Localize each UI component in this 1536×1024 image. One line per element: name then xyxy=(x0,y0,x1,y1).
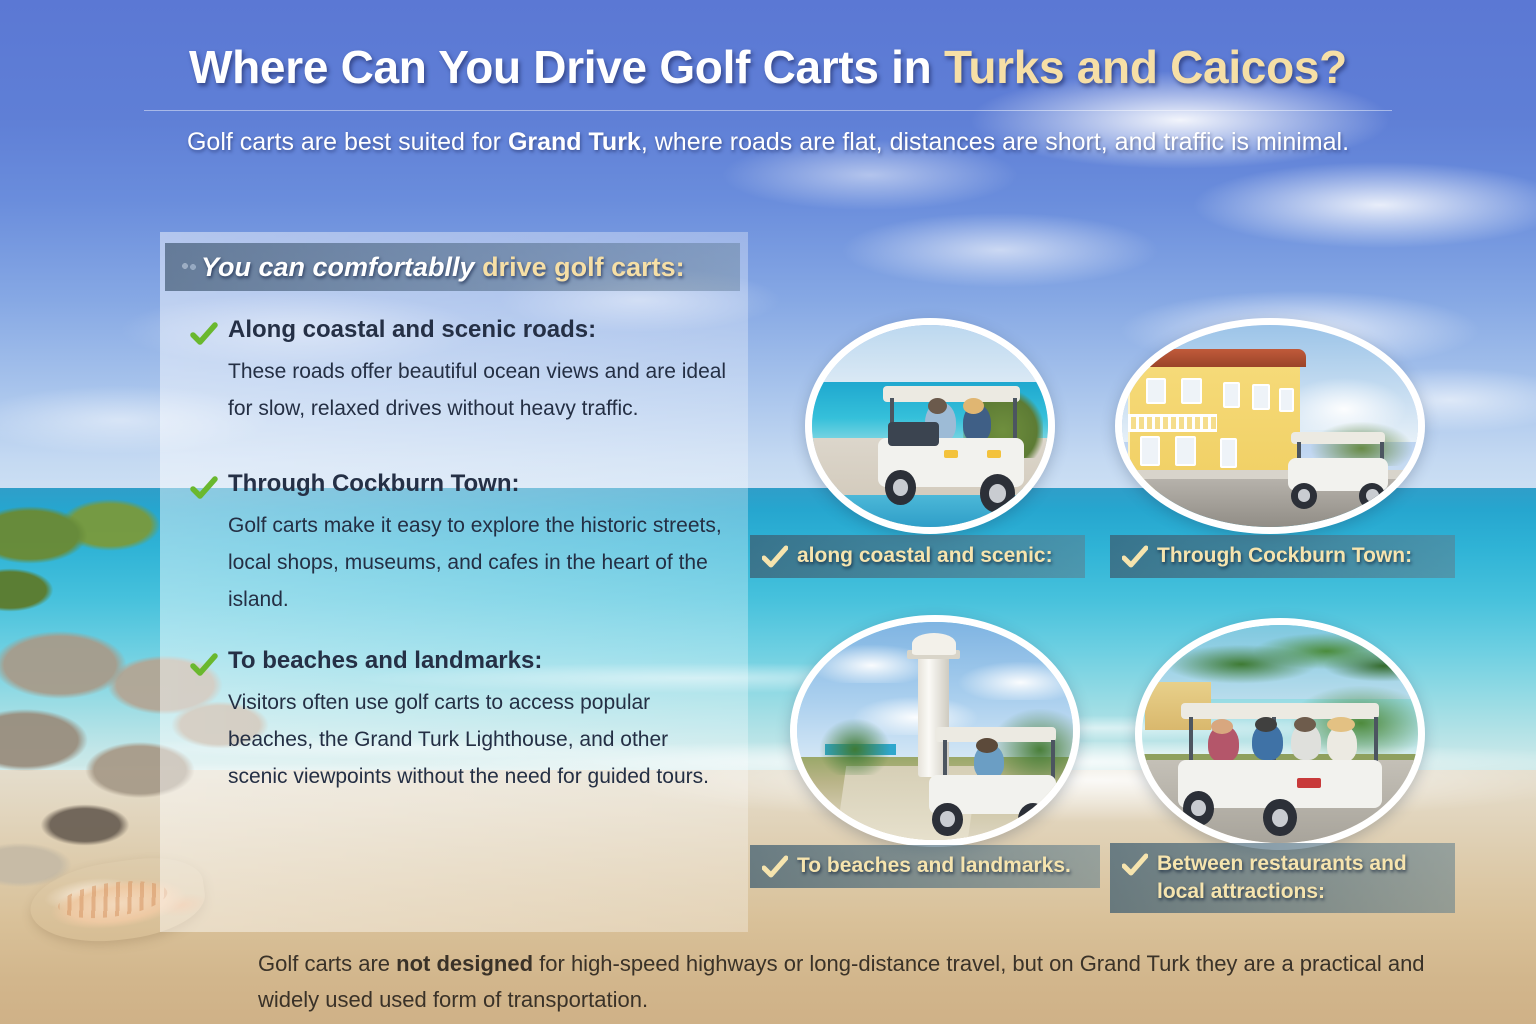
cart-roof xyxy=(883,386,1020,402)
section-banner: You can comfortablly drive golf carts: xyxy=(165,243,740,291)
section-banner-label: You can comfortablly drive golf carts: xyxy=(201,252,685,283)
photo-coastal-road xyxy=(805,318,1055,534)
passenger-head xyxy=(1211,719,1233,734)
bullet-body: Visitors often use golf carts to access … xyxy=(228,685,730,796)
footer-note: Golf carts are not designed for high-spe… xyxy=(258,946,1438,1019)
photo-cloud xyxy=(957,661,1080,700)
bullet-list: Along coastal and scenic roads: These ro… xyxy=(190,316,730,824)
photo-sky xyxy=(812,325,1048,386)
passenger-hat xyxy=(1327,717,1355,732)
building-window xyxy=(1146,378,1167,404)
bullet-title: To beaches and landmarks: xyxy=(228,647,542,675)
photo-content xyxy=(1142,625,1418,843)
bullet-title: Along coastal and scenic roads: xyxy=(228,316,596,344)
cart-wheel xyxy=(932,803,962,836)
check-icon xyxy=(762,855,788,879)
photo-lighthouse xyxy=(790,615,1080,847)
cart-taillight xyxy=(1297,778,1322,789)
caption-label: Through Cockburn Town: xyxy=(1157,542,1412,570)
check-icon xyxy=(762,545,788,569)
bullet-body: These roads offer beautiful ocean views … xyxy=(228,354,730,428)
palm-tree xyxy=(819,718,891,775)
building-window xyxy=(1175,436,1196,466)
page-subtitle: Golf carts are best suited for Grand Tur… xyxy=(148,125,1388,161)
photo-content xyxy=(797,622,1073,840)
building-window xyxy=(1140,436,1161,466)
page-title-accent: Turks and Caicos? xyxy=(944,41,1347,93)
bullet-heading-row: To beaches and landmarks: xyxy=(190,647,730,679)
cart-wheel xyxy=(1263,799,1296,836)
check-icon xyxy=(190,651,218,679)
cart-wheel xyxy=(1018,803,1048,836)
bullet-body: Golf carts make it easy to explore the h… xyxy=(228,508,730,619)
list-item: Through Cockburn Town: Golf carts make i… xyxy=(190,470,730,619)
cart-roof xyxy=(935,727,1056,742)
caption-label: along coastal and scenic: xyxy=(797,542,1053,570)
subtitle-post: , where roads are flat, distances are sh… xyxy=(641,128,1349,156)
building-window xyxy=(1223,382,1241,408)
lighthouse-lamp-room xyxy=(912,633,956,655)
photo-caption-restaurants: Between restaurants and local attraction… xyxy=(1110,843,1455,913)
building-window xyxy=(1279,388,1294,412)
bullet-title: Through Cockburn Town: xyxy=(228,470,520,498)
photo-content xyxy=(812,325,1048,527)
footer-pre: Golf carts are xyxy=(258,951,396,976)
check-icon xyxy=(190,320,218,348)
building-window xyxy=(1220,438,1238,468)
passenger-hat xyxy=(963,398,984,414)
page-title-main: Where Can You Drive Golf Carts in xyxy=(189,41,944,93)
building-balcony xyxy=(1128,414,1217,432)
bullet-heading-row: Along coastal and scenic roads: xyxy=(190,316,730,348)
photo-cockburn-town xyxy=(1115,318,1425,534)
check-icon xyxy=(190,474,218,502)
banner-text-plain: You can comfortablly xyxy=(201,252,482,282)
title-divider xyxy=(144,110,1392,111)
check-icon xyxy=(1122,853,1148,877)
cart-wheel xyxy=(980,474,1015,512)
list-item: To beaches and landmarks: Visitors often… xyxy=(190,647,730,796)
caption-label: Between restaurants and local attraction… xyxy=(1157,850,1441,905)
passenger-head xyxy=(976,738,998,753)
check-icon xyxy=(1122,545,1148,569)
building-window xyxy=(1181,378,1202,404)
quote-mark-icon xyxy=(181,262,197,272)
bullet-heading-row: Through Cockburn Town: xyxy=(190,470,730,502)
cart-wheel xyxy=(885,470,916,504)
header: Where Can You Drive Golf Carts in Turks … xyxy=(0,0,1536,161)
subtitle-bold: Grand Turk xyxy=(508,128,641,156)
photo-caption-coastal: along coastal and scenic: xyxy=(750,535,1085,578)
photo-content xyxy=(1122,325,1418,527)
subtitle-pre: Golf carts are best suited for xyxy=(187,128,508,156)
cart-headlight xyxy=(987,450,1001,458)
cart-seat xyxy=(888,422,940,446)
cart-roof xyxy=(1291,432,1386,444)
page-title: Where Can You Drive Golf Carts in Turks … xyxy=(0,0,1536,94)
passenger-head xyxy=(1294,717,1316,732)
infographic-canvas: Where Can You Drive Golf Carts in Turks … xyxy=(0,0,1536,1024)
cart-roof xyxy=(1181,703,1380,718)
caption-label: To beaches and landmarks. xyxy=(797,852,1071,880)
photo-caption-beaches: To beaches and landmarks. xyxy=(750,845,1100,888)
cart-post xyxy=(1189,717,1193,765)
cart-wheel xyxy=(1291,483,1318,509)
banner-text-accent: drive golf carts: xyxy=(482,252,685,282)
photo-caption-cockburn: Through Cockburn Town: xyxy=(1110,535,1455,578)
footer-bold: not designed xyxy=(396,951,533,976)
passenger-head xyxy=(928,398,947,414)
list-item: Along coastal and scenic roads: These ro… xyxy=(190,316,730,428)
photo-vegetation xyxy=(990,709,1073,783)
photo-family-cart xyxy=(1135,618,1425,850)
cart-post xyxy=(1374,717,1378,765)
cart-wheel xyxy=(1183,791,1213,826)
cart-headlight xyxy=(944,450,958,458)
building-window xyxy=(1252,384,1270,410)
building-roof xyxy=(1122,349,1306,367)
passenger-head xyxy=(1255,717,1277,732)
cart-wheel xyxy=(1359,483,1386,509)
